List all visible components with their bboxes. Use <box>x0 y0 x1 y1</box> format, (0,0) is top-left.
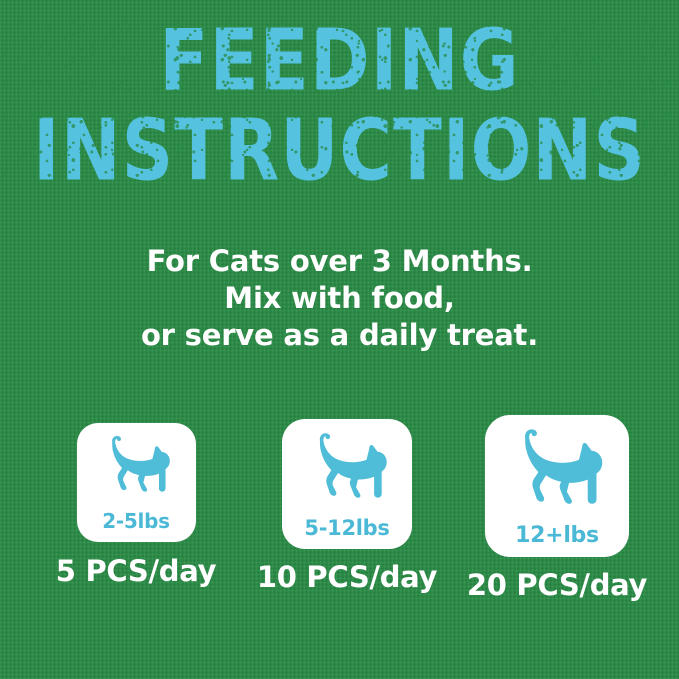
subtitle-line-treat: or serve as a daily treat. <box>0 317 679 354</box>
feeding-card-small: 2-5lbs <box>77 423 196 542</box>
weight-label: 5-12lbs <box>304 516 389 549</box>
weight-label: 12+lbs <box>515 523 599 557</box>
cat-icon <box>95 434 177 498</box>
cat-icon-holder <box>485 415 629 523</box>
cat-icon <box>300 431 395 505</box>
cat-icon <box>502 427 612 512</box>
cat-icon-holder <box>77 423 196 509</box>
feeding-card-group-large: 12+lbs 20 PCS/day <box>434 415 679 602</box>
weight-label: 2-5lbs <box>102 509 169 542</box>
cat-icon-holder <box>282 419 412 516</box>
dose-label: 5 PCS/day <box>13 554 259 588</box>
subtitle-line-mix: Mix with food, <box>0 280 679 317</box>
page-title: FEEDING INSTRUCTIONS <box>0 20 679 179</box>
feeding-cards-row: 2-5lbs 5 PCS/day 5-12lbs 10 PCS/day <box>0 415 679 615</box>
title-line-feeding: FEEDING <box>0 20 679 101</box>
subtitle-line-age: For Cats over 3 Months. <box>0 243 679 280</box>
feeding-card-medium: 5-12lbs <box>282 419 412 549</box>
feeding-card-large: 12+lbs <box>485 415 629 557</box>
title-line-instructions: INSTRUCTIONS <box>2 110 678 191</box>
feeding-card-group-small: 2-5lbs 5 PCS/day <box>13 423 259 588</box>
subtitle-block: For Cats over 3 Months. Mix with food, o… <box>0 243 679 354</box>
feeding-instructions-poster: FEEDING INSTRUCTIONS For Cats over 3 Mon… <box>0 0 679 679</box>
dose-label: 20 PCS/day <box>434 568 679 602</box>
